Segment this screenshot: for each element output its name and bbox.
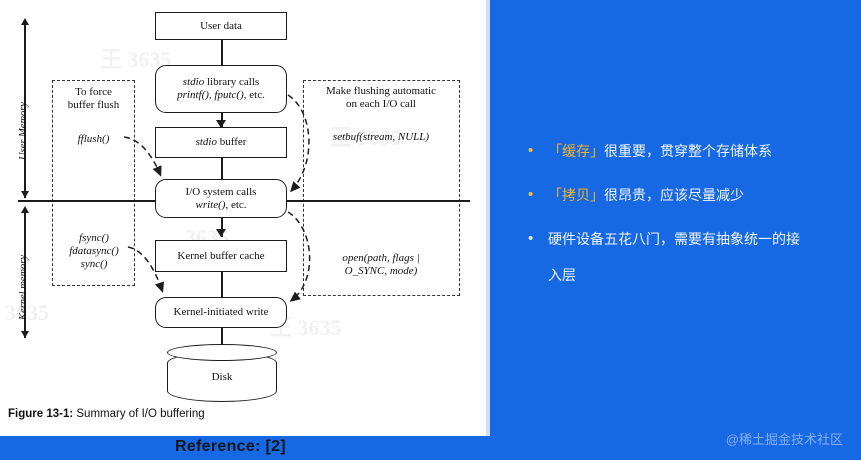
open-call-label: open(path, flags | O_SYNC, mode) (305, 252, 457, 278)
fflush-label: fflush() (52, 133, 135, 146)
sync-text: sync() (81, 258, 108, 270)
node-io-system-calls[interactable]: I/O system calls write(), etc. (155, 179, 287, 218)
region-label-kernel-memory: Kernel memory (18, 255, 29, 320)
figure-caption-text: Summary of I/O buffering (73, 408, 204, 420)
auto-flush-title: Make flushing automatic on each I/O call (305, 85, 457, 111)
list-item: • 「缓存」很重要，贯穿整个存储体系 (522, 140, 852, 162)
kernel-memory-span-arrow-bottom (21, 331, 29, 338)
force-flush-title-line1: To force (75, 86, 112, 98)
node-disk-label: Disk (212, 371, 233, 383)
corner-watermark: @稀土掘金技术社区 (726, 429, 843, 448)
printf-fputc-keyword: printf(), fputc() (177, 89, 244, 101)
setbuf-label: setbuf(stream, NULL) (305, 131, 457, 144)
bullet-text: 「缓存」很重要，贯穿整个存储体系 (548, 140, 852, 162)
connector-userdata-to-stdio (221, 40, 223, 65)
connector-cache-to-kwrite (221, 272, 223, 297)
node-kernel-initiated-write-label: Kernel-initiated write (174, 306, 269, 319)
stdio-keyword: stdio (183, 76, 204, 88)
bullet-highlight: 「缓存」 (548, 143, 604, 159)
node-user-data-label: User data (200, 20, 242, 33)
stdio-calls-rest: library calls (204, 76, 259, 88)
write-keyword: write() (195, 199, 225, 211)
open-text-line2: O_SYNC, mode) (345, 265, 418, 277)
printf-fputc-rest: , etc. (244, 89, 265, 101)
bullet-highlight: 「拷贝」 (548, 187, 604, 203)
slide-root: 王 3635 王 3635 王 3635 3635 3635 User Memo… (0, 0, 861, 460)
node-kernel-buffer-cache[interactable]: Kernel buffer cache (155, 240, 287, 272)
fsync-text: fsync() (79, 232, 109, 244)
open-text-line1: open(path, flags | (342, 252, 419, 264)
connector-buffer-to-syscalls (221, 158, 223, 179)
setbuf-text: setbuf(stream, NULL) (333, 131, 429, 143)
write-rest: , etc. (225, 199, 246, 211)
node-kernel-initiated-write[interactable]: Kernel-initiated write (155, 297, 287, 328)
node-stdio-buffer-label: stdio buffer (196, 136, 247, 149)
bullet-text: 硬件设备五花八门，需要有抽象统一的接 (548, 228, 852, 250)
bullet-body: 很昂贵，应该尽量减少 (604, 187, 744, 203)
node-io-calls-line1: I/O system calls (186, 186, 257, 199)
force-flush-title-line2: buffer flush (68, 99, 119, 111)
list-item: • 硬件设备五花八门，需要有抽象统一的接 (522, 228, 852, 250)
bullet-continuation: 入层 (548, 264, 852, 286)
figure-caption: Figure 13-1: Summary of I/O buffering (8, 408, 205, 420)
user-memory-span-arrow-bottom (21, 191, 29, 198)
bullet-text: 「拷贝」很昂贵，应该尽量减少 (548, 184, 852, 206)
node-stdio-buffer[interactable]: stdio buffer (155, 127, 287, 158)
node-stdio-calls-line2: printf(), fputc(), etc. (177, 89, 265, 102)
node-kernel-buffer-cache-label: Kernel buffer cache (177, 250, 264, 263)
force-flush-title: To force buffer flush (52, 86, 135, 112)
node-stdio-library-calls[interactable]: stdio library calls printf(), fputc(), e… (155, 65, 287, 113)
bullet-marker-icon: • (522, 140, 548, 162)
region-label-user-memory: User Memory (18, 102, 29, 160)
node-user-data[interactable]: User data (155, 12, 287, 40)
node-io-calls-line2: write(), etc. (195, 199, 246, 212)
node-stdio-calls-line1: stdio library calls (183, 76, 259, 89)
auto-flush-title-line1: Make flushing automatic (326, 85, 436, 97)
stdio-buffer-rest: buffer (217, 136, 246, 148)
sync-family-label: fsync() fdatasync() sync() (50, 232, 138, 272)
bullet-marker-icon: • (522, 184, 548, 206)
figure-caption-prefix: Figure 13-1: (8, 408, 73, 420)
reference-label: Reference: [2] (175, 438, 286, 456)
figure-panel-edge (486, 0, 490, 436)
fdatasync-text: fdatasync() (69, 245, 118, 257)
figure-panel: 王 3635 王 3635 王 3635 3635 3635 User Memo… (0, 0, 490, 436)
list-item: • 「拷贝」很昂贵，应该尽量减少 (522, 184, 852, 206)
bullet-body: 硬件设备五花八门，需要有抽象统一的接 (548, 231, 800, 247)
bullet-marker-icon: • (522, 228, 548, 250)
fflush-text: fflush() (78, 133, 110, 145)
bullet-body: 很重要，贯穿整个存储体系 (604, 143, 772, 159)
arrow-syscalls-to-cache (216, 229, 226, 237)
auto-flush-title-line2: on each I/O call (346, 98, 416, 110)
stdio-buffer-keyword: stdio (196, 136, 217, 148)
disk-top-ellipse (167, 344, 277, 361)
bullet-list: • 「缓存」很重要，贯穿整个存储体系 • 「拷贝」很昂贵，应该尽量减少 • 硬件… (522, 140, 852, 286)
